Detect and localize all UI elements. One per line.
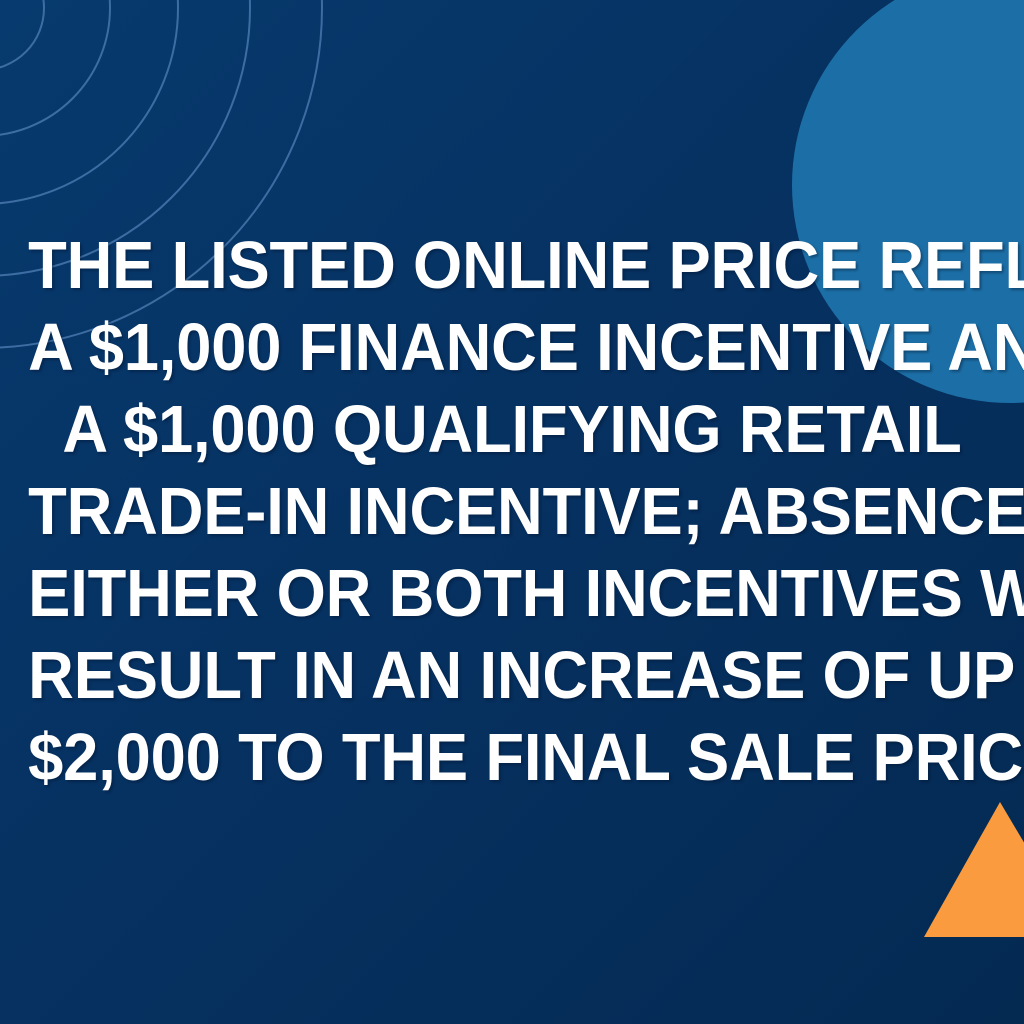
promotional-disclaimer-graphic: THE LISTED ONLINE PRICE REFLECTS A $1,00… xyxy=(0,0,1024,1024)
disclaimer-line-2: A $1,000 FINANCE INCENTIVE AND xyxy=(28,307,996,389)
disclaimer-headline: THE LISTED ONLINE PRICE REFLECTS A $1,00… xyxy=(28,225,996,799)
disclaimer-line-4: TRADE-IN INCENTIVE; ABSENCE OF xyxy=(28,471,996,553)
disclaimer-line-6: RESULT IN AN INCREASE OF UP TO xyxy=(28,635,996,717)
disclaimer-line-5: EITHER OR BOTH INCENTIVES WILL xyxy=(28,553,996,635)
disclaimer-line-7: $2,000 TO THE FINAL SALE PRICE. xyxy=(28,717,996,799)
disclaimer-line-1: THE LISTED ONLINE PRICE REFLECTS xyxy=(28,225,996,307)
disclaimer-line-3: A $1,000 QUALIFYING RETAIL xyxy=(28,389,996,471)
disclaimer-text-block: THE LISTED ONLINE PRICE REFLECTS A $1,00… xyxy=(0,0,1024,1024)
